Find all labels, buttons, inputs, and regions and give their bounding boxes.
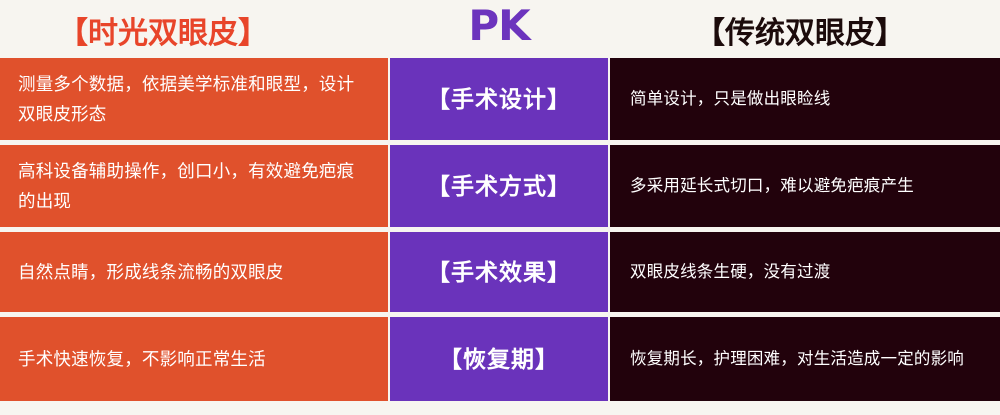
comparison-infographic: 【时光双眼皮】 PK 【传统双眼皮】 测量多个数据，依据美学标准和眼型，设计双眼…	[0, 0, 1000, 415]
row-2-right-cell: 双眼皮线条生硬，没有过渡	[610, 232, 1000, 312]
comparison-table: 测量多个数据，依据美学标准和眼型，设计双眼皮形态 【手术设计】 简单设计，只是做…	[0, 58, 1000, 415]
row-2-right-text: 双眼皮线条生硬，没有过渡	[630, 257, 830, 287]
row-2-category-cell: 【手术效果】	[390, 232, 608, 312]
row-3-right-cell: 恢复期长，护理困难，对生活造成一定的影响	[610, 317, 1000, 401]
table-row: 手术快速恢复，不影响正常生活 【恢复期】 恢复期长，护理困难，对生活造成一定的影…	[0, 317, 1000, 401]
row-1-right-text: 多采用延长式切口，难以避免疤痕产生	[630, 171, 914, 201]
row-3-category-cell: 【恢复期】	[390, 317, 608, 401]
row-0-right-cell: 简单设计，只是做出眼睑线	[610, 58, 1000, 140]
row-1-left-cell: 高科设备辅助操作，创口小，有效避免疤痕的出现	[0, 145, 388, 227]
row-2-category-label: 【手术效果】	[427, 257, 571, 287]
row-3-left-cell: 手术快速恢复，不影响正常生活	[0, 317, 388, 401]
header: 【时光双眼皮】 PK 【传统双眼皮】	[0, 0, 1000, 58]
row-2-left-cell: 自然点睛，形成线条流畅的双眼皮	[0, 232, 388, 312]
header-title-right: 【传统双眼皮】	[695, 8, 995, 52]
row-1-right-cell: 多采用延长式切口，难以避免疤痕产生	[610, 145, 1000, 227]
row-3-category-label: 【恢复期】	[439, 344, 559, 374]
row-0-left-cell: 测量多个数据，依据美学标准和眼型，设计双眼皮形态	[0, 58, 388, 140]
header-title-left: 【时光双眼皮】	[58, 8, 388, 52]
row-1-category-label: 【手术方式】	[427, 171, 571, 201]
row-3-left-text: 手术快速恢复，不影响正常生活	[18, 344, 266, 374]
table-row: 高科设备辅助操作，创口小，有效避免疤痕的出现 【手术方式】 多采用延长式切口，难…	[0, 145, 1000, 227]
row-0-right-text: 简单设计，只是做出眼睑线	[630, 84, 830, 114]
row-0-category-cell: 【手术设计】	[390, 58, 608, 140]
header-title-pk: PK	[390, 0, 608, 52]
row-1-category-cell: 【手术方式】	[390, 145, 608, 227]
row-2-left-text: 自然点睛，形成线条流畅的双眼皮	[18, 257, 284, 287]
table-row: 测量多个数据，依据美学标准和眼型，设计双眼皮形态 【手术设计】 简单设计，只是做…	[0, 58, 1000, 140]
table-row: 自然点睛，形成线条流畅的双眼皮 【手术效果】 双眼皮线条生硬，没有过渡	[0, 232, 1000, 312]
row-1-left-text: 高科设备辅助操作，创口小，有效避免疤痕的出现	[18, 156, 366, 216]
row-3-right-text: 恢复期长，护理困难，对生活造成一定的影响	[630, 344, 964, 374]
row-0-left-text: 测量多个数据，依据美学标准和眼型，设计双眼皮形态	[18, 69, 366, 129]
row-0-category-label: 【手术设计】	[427, 84, 571, 114]
